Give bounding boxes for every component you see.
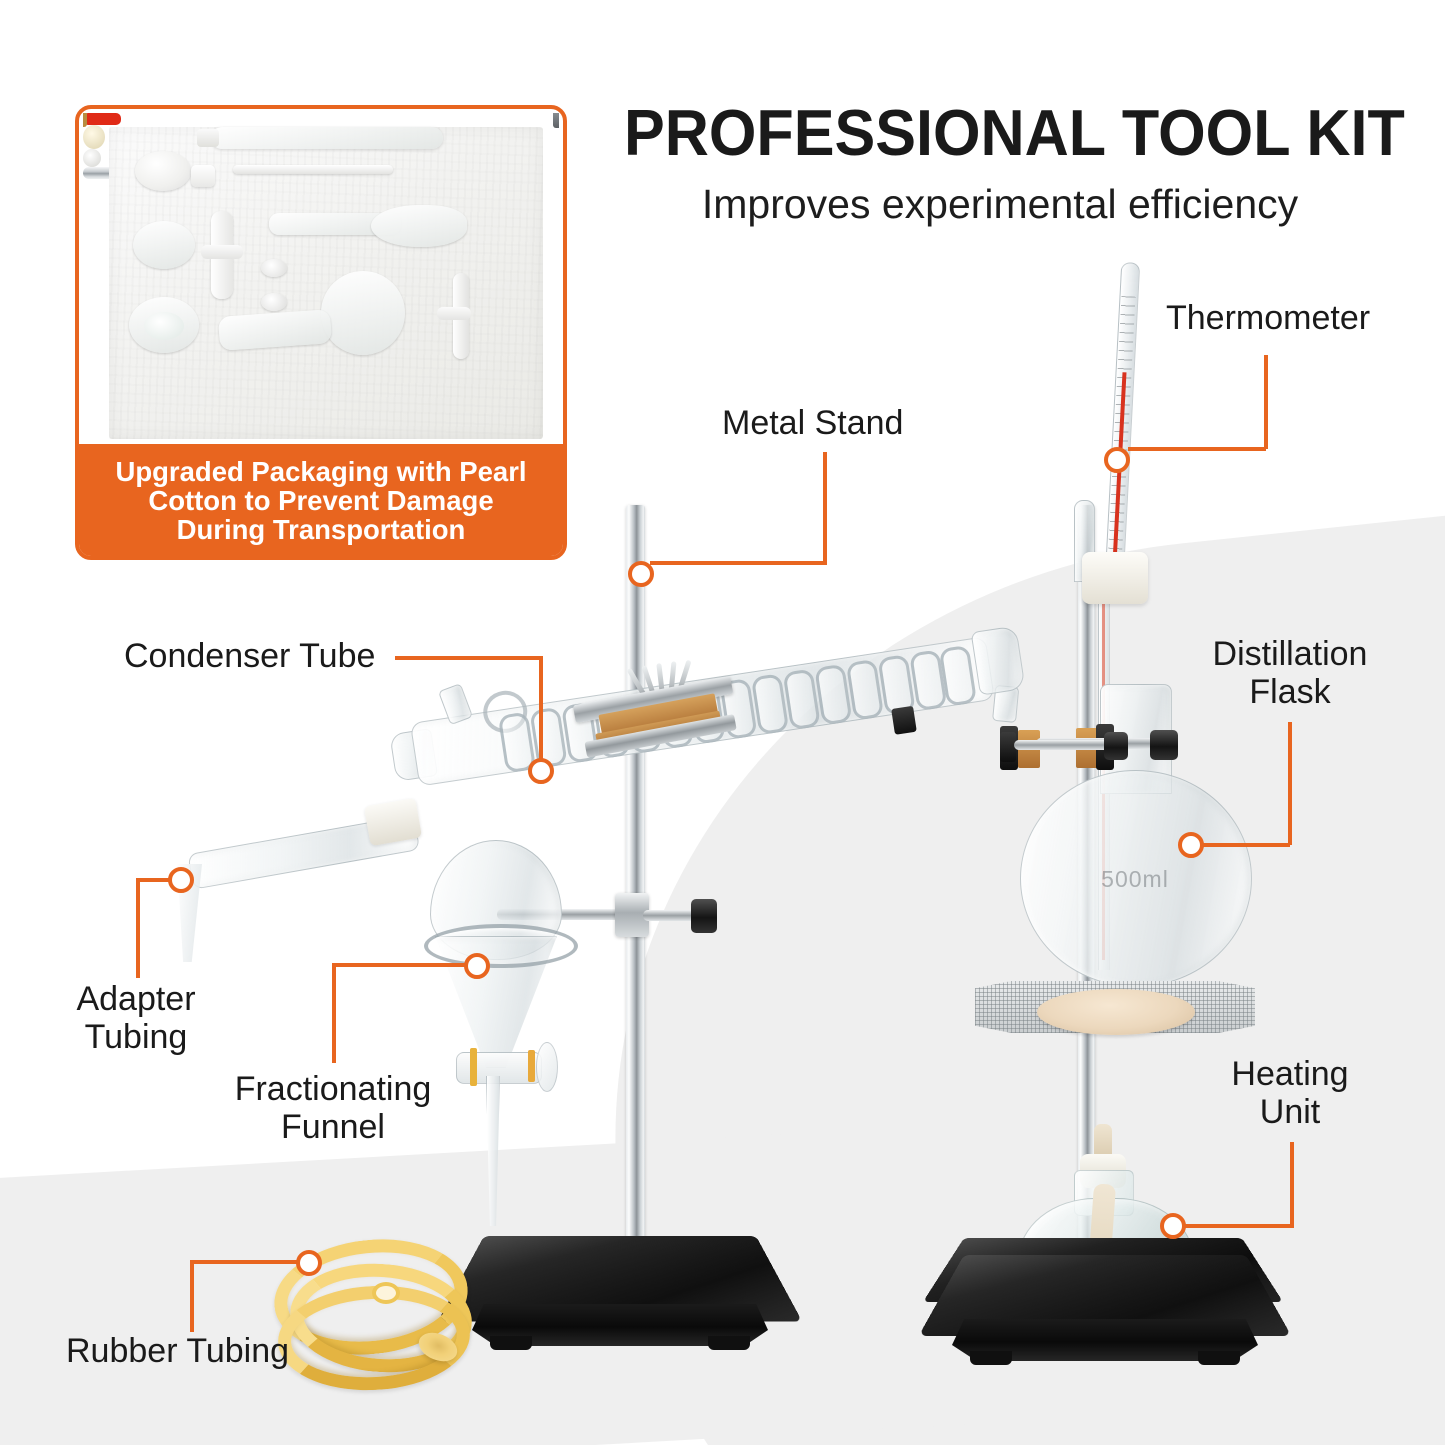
packed-adapter bbox=[211, 211, 233, 299]
leader-thermometer-h bbox=[1128, 447, 1266, 451]
fractionating-funnel bbox=[430, 840, 560, 1220]
clamp-knob-lower bbox=[1104, 732, 1128, 760]
flask-volume-marking: 500ml bbox=[1070, 866, 1200, 893]
packed-dish-2 bbox=[133, 221, 195, 269]
packaging-caption-line-3: During Transportation bbox=[115, 515, 526, 544]
clamp-tightening-knob bbox=[1150, 730, 1178, 760]
funnel-support-ring bbox=[424, 924, 578, 968]
label-adapter-tubing: Adapter Tubing bbox=[36, 980, 236, 1056]
packed-dish-1 bbox=[135, 151, 191, 191]
leader-thermometer-v bbox=[1264, 355, 1268, 449]
packed-stopcock-valve bbox=[83, 125, 105, 149]
dot-distillation-flask bbox=[1178, 832, 1204, 858]
label-distillation-flask: Distillation Flask bbox=[1180, 635, 1400, 711]
metal-stand-base-right bbox=[940, 1255, 1270, 1385]
clamp-arm-lower bbox=[1014, 740, 1110, 750]
leader-funnel-v bbox=[332, 965, 336, 1063]
packed-thermometer-bulb bbox=[83, 113, 121, 125]
packed-condenser bbox=[211, 127, 443, 149]
dot-heating-unit bbox=[1160, 1213, 1186, 1239]
leader-adapter-v bbox=[136, 880, 140, 978]
leader-flask-v bbox=[1288, 722, 1292, 845]
leader-heating-v bbox=[1290, 1142, 1294, 1228]
dot-adapter-tubing bbox=[168, 867, 194, 893]
adapter-tubing-part bbox=[155, 808, 405, 968]
header-block: PROFESSIONAL TOOL KIT Improves experimen… bbox=[600, 100, 1400, 227]
packed-side-tube bbox=[453, 273, 469, 359]
packed-stopper bbox=[191, 165, 215, 187]
leader-metal-stand-v bbox=[823, 452, 827, 565]
label-rubber-tubing: Rubber Tubing bbox=[66, 1332, 289, 1370]
leader-metal-stand-h bbox=[650, 561, 825, 565]
dot-condenser-tube bbox=[528, 758, 554, 784]
wire-gauze bbox=[975, 975, 1255, 1047]
infographic-canvas: PROFESSIONAL TOOL KIT Improves experimen… bbox=[0, 0, 1445, 1445]
leader-condenser-h bbox=[395, 656, 543, 660]
distillation-flask-part: 500ml bbox=[1020, 770, 1250, 1000]
label-metal-stand: Metal Stand bbox=[722, 404, 903, 442]
packed-flask bbox=[321, 271, 405, 355]
packaging-photo bbox=[83, 113, 559, 448]
page-title: PROFESSIONAL TOOL KIT bbox=[624, 100, 1376, 166]
dot-metal-stand bbox=[628, 561, 654, 587]
packed-fitting-1 bbox=[261, 259, 287, 277]
label-fractionating-funnel: Fractionating Funnel bbox=[198, 1070, 468, 1146]
base-foot-left-right bbox=[970, 1351, 1012, 1365]
condenser-mount-block bbox=[891, 706, 917, 735]
base-foot-left bbox=[490, 1336, 532, 1350]
packaging-caption: Upgraded Packaging with Pearl Cotton to … bbox=[78, 444, 564, 557]
label-heating-unit: Heating Unit bbox=[1190, 1055, 1390, 1131]
condenser-clamp bbox=[569, 655, 740, 764]
packed-beaker bbox=[129, 297, 199, 353]
dot-fractionating-funnel bbox=[464, 953, 490, 979]
packaging-caption-line-1: Upgraded Packaging with Pearl bbox=[115, 457, 526, 486]
dot-thermometer bbox=[1104, 447, 1130, 473]
packaging-caption-line-2: Cotton to Prevent Damage bbox=[115, 486, 526, 515]
thermometer-part bbox=[1096, 262, 1147, 593]
leader-rubber-h bbox=[190, 1260, 306, 1264]
label-thermometer: Thermometer bbox=[1166, 299, 1370, 337]
base-foot-right-right bbox=[1198, 1351, 1240, 1365]
packed-funnel bbox=[371, 205, 467, 247]
leader-heating-h bbox=[1178, 1224, 1292, 1228]
base-foot-right bbox=[708, 1336, 750, 1350]
tubing-bore-opening bbox=[376, 1286, 396, 1300]
metal-stand-rod-left bbox=[626, 505, 645, 1250]
label-condenser-tube: Condenser Tube bbox=[124, 637, 375, 675]
stopcock-band-right bbox=[528, 1050, 535, 1082]
leader-funnel-h bbox=[332, 963, 474, 967]
metal-stand-base-left bbox=[460, 1236, 780, 1366]
clamp-knob bbox=[691, 899, 717, 933]
leader-flask-h bbox=[1198, 843, 1290, 847]
flask-clamp-lower bbox=[1000, 726, 1130, 766]
gauze-ceramic-center bbox=[1037, 989, 1195, 1035]
stopcock-handle bbox=[536, 1042, 558, 1092]
funnel-stem bbox=[486, 1076, 500, 1226]
page-subtitle: Improves experimental efficiency bbox=[600, 182, 1400, 227]
flask-stopper bbox=[1082, 552, 1148, 604]
packed-neck-ring bbox=[83, 149, 101, 167]
stopcock-band-left bbox=[470, 1048, 477, 1086]
leader-condenser-v bbox=[539, 656, 543, 768]
packed-fitting-2 bbox=[261, 293, 287, 311]
dot-rubber-tubing bbox=[296, 1250, 322, 1276]
packaging-card: Upgraded Packaging with Pearl Cotton to … bbox=[75, 105, 567, 560]
packed-thermometer bbox=[233, 165, 393, 174]
leader-rubber-v bbox=[190, 1262, 194, 1332]
